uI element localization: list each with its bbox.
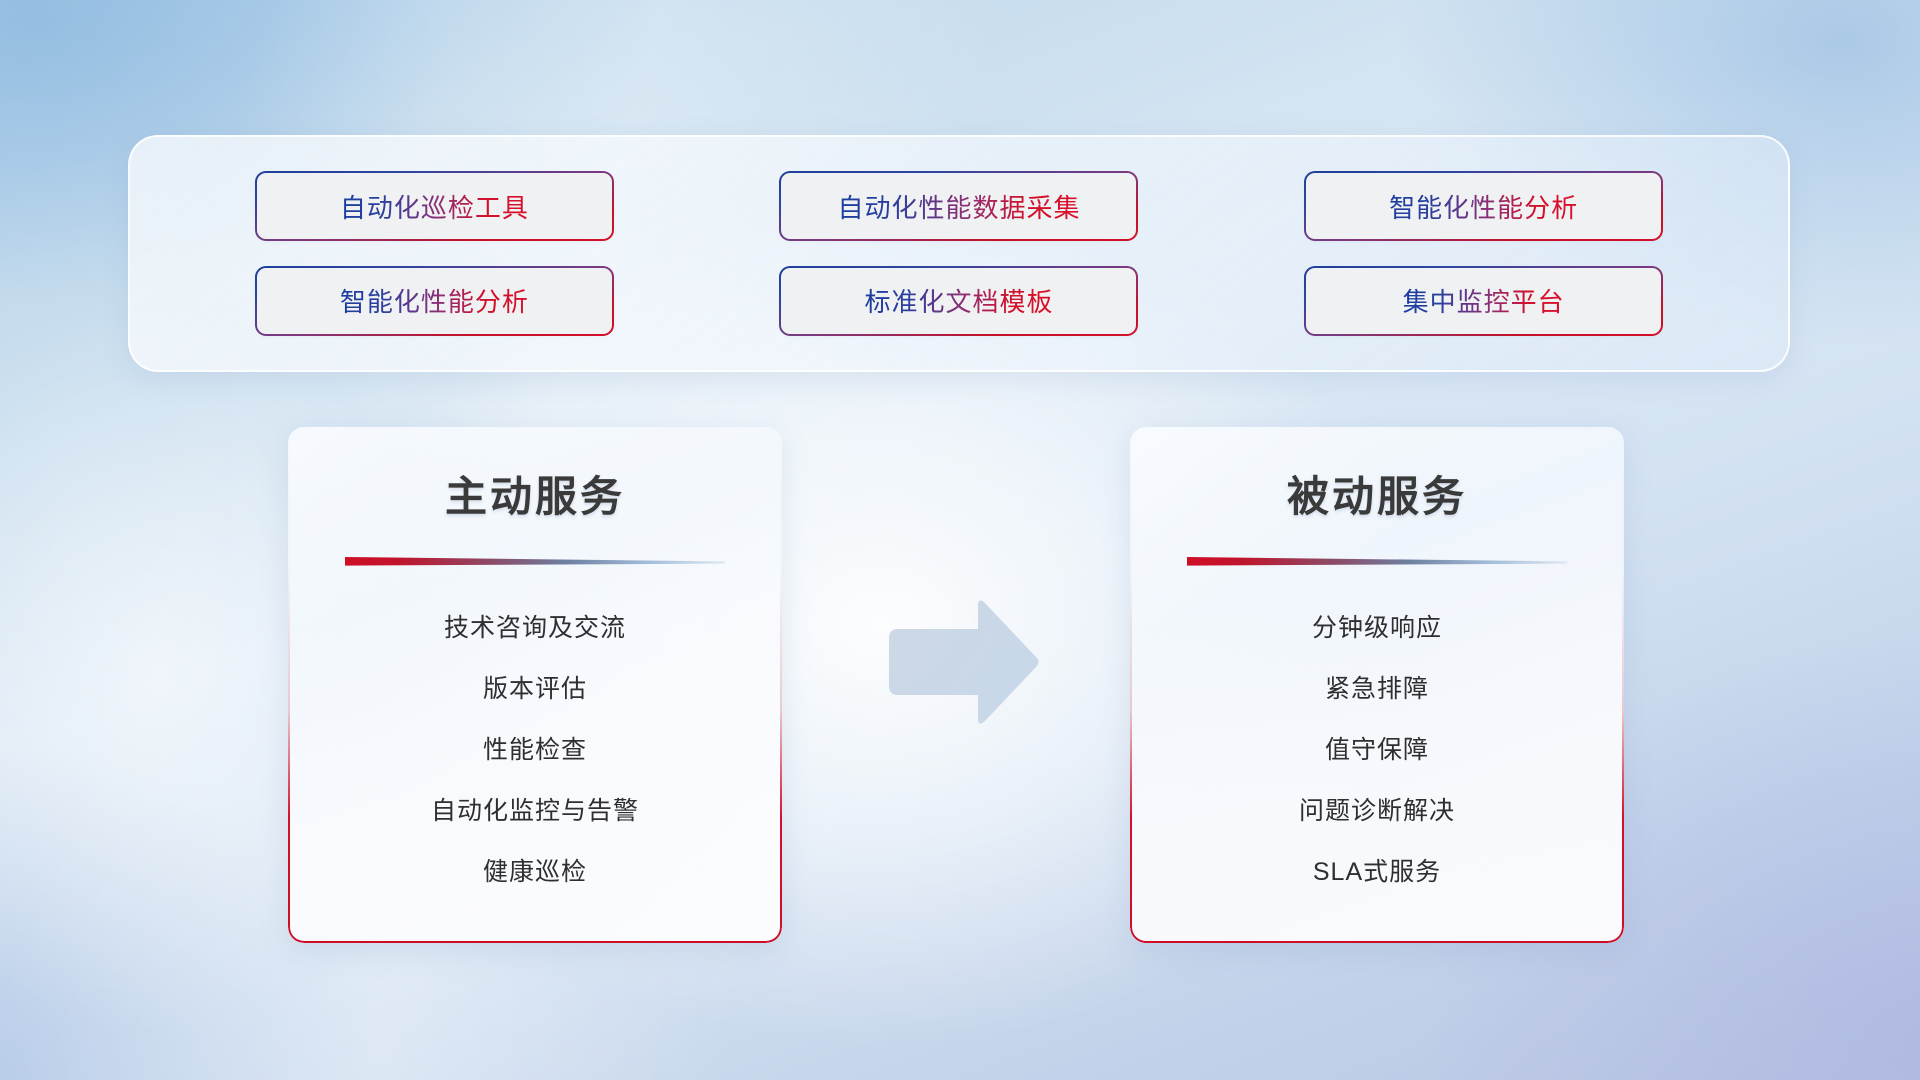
list-item: 问题诊断解决 [1130, 781, 1624, 842]
list-item: 分钟级响应 [1130, 598, 1624, 659]
list-item: SLA式服务 [1130, 842, 1624, 903]
list-item: 健康巡检 [288, 842, 782, 903]
capability-pill-label: 标准化文档模板 [864, 282, 1053, 319]
capability-pill-label: 智能化性能分析 [340, 282, 529, 319]
list-item: 值守保障 [1130, 720, 1624, 781]
reactive-service-card: 被动服务 分钟级响应 紧急排障 值守保障 [1130, 427, 1624, 943]
capability-pill-label: 自动化性能数据采集 [837, 188, 1080, 225]
list-item: 版本评估 [288, 659, 782, 720]
capability-panel: 自动化巡检工具 自动化性能数据采集 智能化性能分析 智能化性能分析 标准化文档模… [128, 135, 1790, 372]
reactive-service-list: 分钟级响应 紧急排障 值守保障 问题诊断解决 SLA式服务 [1130, 598, 1624, 903]
capability-pill-1[interactable]: 自动化巡检工具 [257, 173, 612, 239]
capability-pill-label: 智能化性能分析 [1389, 188, 1578, 225]
list-item: 性能检查 [288, 720, 782, 781]
capability-pill-3[interactable]: 智能化性能分析 [1306, 173, 1661, 239]
right-arrow-icon [875, 600, 1040, 750]
proactive-service-card: 主动服务 技术咨询及交流 版本评估 性能检查 [288, 427, 782, 943]
capability-pill-4[interactable]: 智能化性能分析 [257, 268, 612, 334]
list-item: 紧急排障 [1130, 659, 1624, 720]
capability-pill-2[interactable]: 自动化性能数据采集 [781, 173, 1136, 239]
capability-pill-6[interactable]: 集中监控平台 [1306, 268, 1661, 334]
slide-canvas: 自动化巡检工具 自动化性能数据采集 智能化性能分析 智能化性能分析 标准化文档模… [0, 0, 1920, 1080]
list-item: 技术咨询及交流 [288, 598, 782, 659]
capability-pill-5[interactable]: 标准化文档模板 [781, 268, 1136, 334]
list-item: 自动化监控与告警 [288, 781, 782, 842]
card-title: 主动服务 [288, 463, 782, 524]
capability-pill-label: 自动化巡检工具 [340, 188, 529, 225]
card-divider [345, 556, 725, 568]
capability-pill-label: 集中监控平台 [1403, 282, 1565, 319]
card-divider [1187, 556, 1567, 568]
proactive-service-list: 技术咨询及交流 版本评估 性能检查 自动化监控与告警 健康巡检 [288, 598, 782, 903]
card-title: 被动服务 [1130, 463, 1624, 524]
